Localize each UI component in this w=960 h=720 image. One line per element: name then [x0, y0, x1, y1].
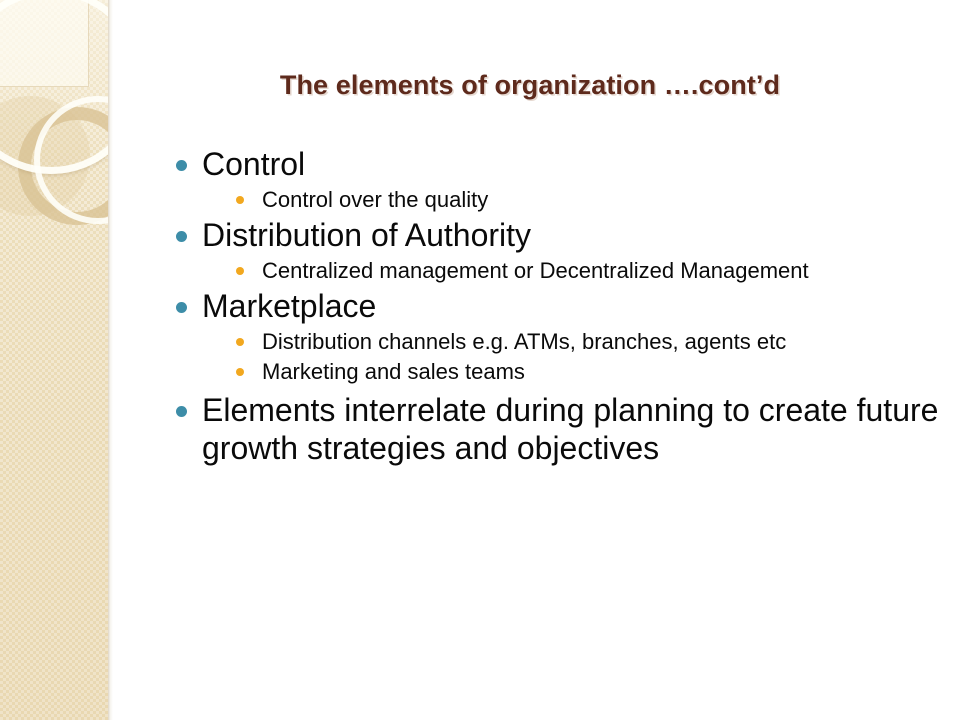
level2-bullet-icon: [236, 267, 244, 275]
slide-title: The elements of organization ….cont’d: [120, 70, 940, 101]
level2-bullet-icon: [236, 196, 244, 204]
level1-bullet-icon: [176, 160, 187, 171]
sidebar-edge-shadow: [108, 0, 113, 720]
bullet-level2: Control over the quality: [170, 187, 940, 213]
bullet-level1: Distribution of Authority: [170, 217, 940, 255]
level2-bullet-icon: [236, 368, 244, 376]
bullet-level1-label: Distribution of Authority: [202, 217, 531, 253]
bullet-level1: Marketplace: [170, 288, 940, 326]
bullet-level2: Distribution channels e.g. ATMs, branche…: [170, 329, 940, 355]
bullet-level2-label: Marketing and sales teams: [262, 359, 525, 384]
bullet-level1-label: Elements interrelate during planning to …: [202, 392, 938, 466]
slide-canvas: The elements of organization ….cont’d Co…: [0, 0, 960, 720]
bullet-level2: Marketing and sales teams: [170, 359, 940, 385]
bullet-level1: Control: [170, 146, 940, 184]
bullet-level1-label: Marketplace: [202, 288, 376, 324]
level1-bullet-icon: [176, 406, 187, 417]
slide-body-list: Control Control over the quality Distrib…: [170, 146, 940, 468]
bullet-level2-label: Distribution channels e.g. ATMs, branche…: [262, 329, 786, 354]
bullet-level2-label: Control over the quality: [262, 187, 488, 212]
bullet-level1: Elements interrelate during planning to …: [170, 392, 940, 468]
level1-bullet-icon: [176, 231, 187, 242]
decorative-sidebar: [0, 0, 108, 720]
bullet-level1-label: Control: [202, 146, 305, 182]
bullet-level2-label: Centralized management or Decentralized …: [262, 258, 809, 283]
bullet-level2: Centralized management or Decentralized …: [170, 258, 940, 284]
level2-bullet-icon: [236, 338, 244, 346]
level1-bullet-icon: [176, 302, 187, 313]
